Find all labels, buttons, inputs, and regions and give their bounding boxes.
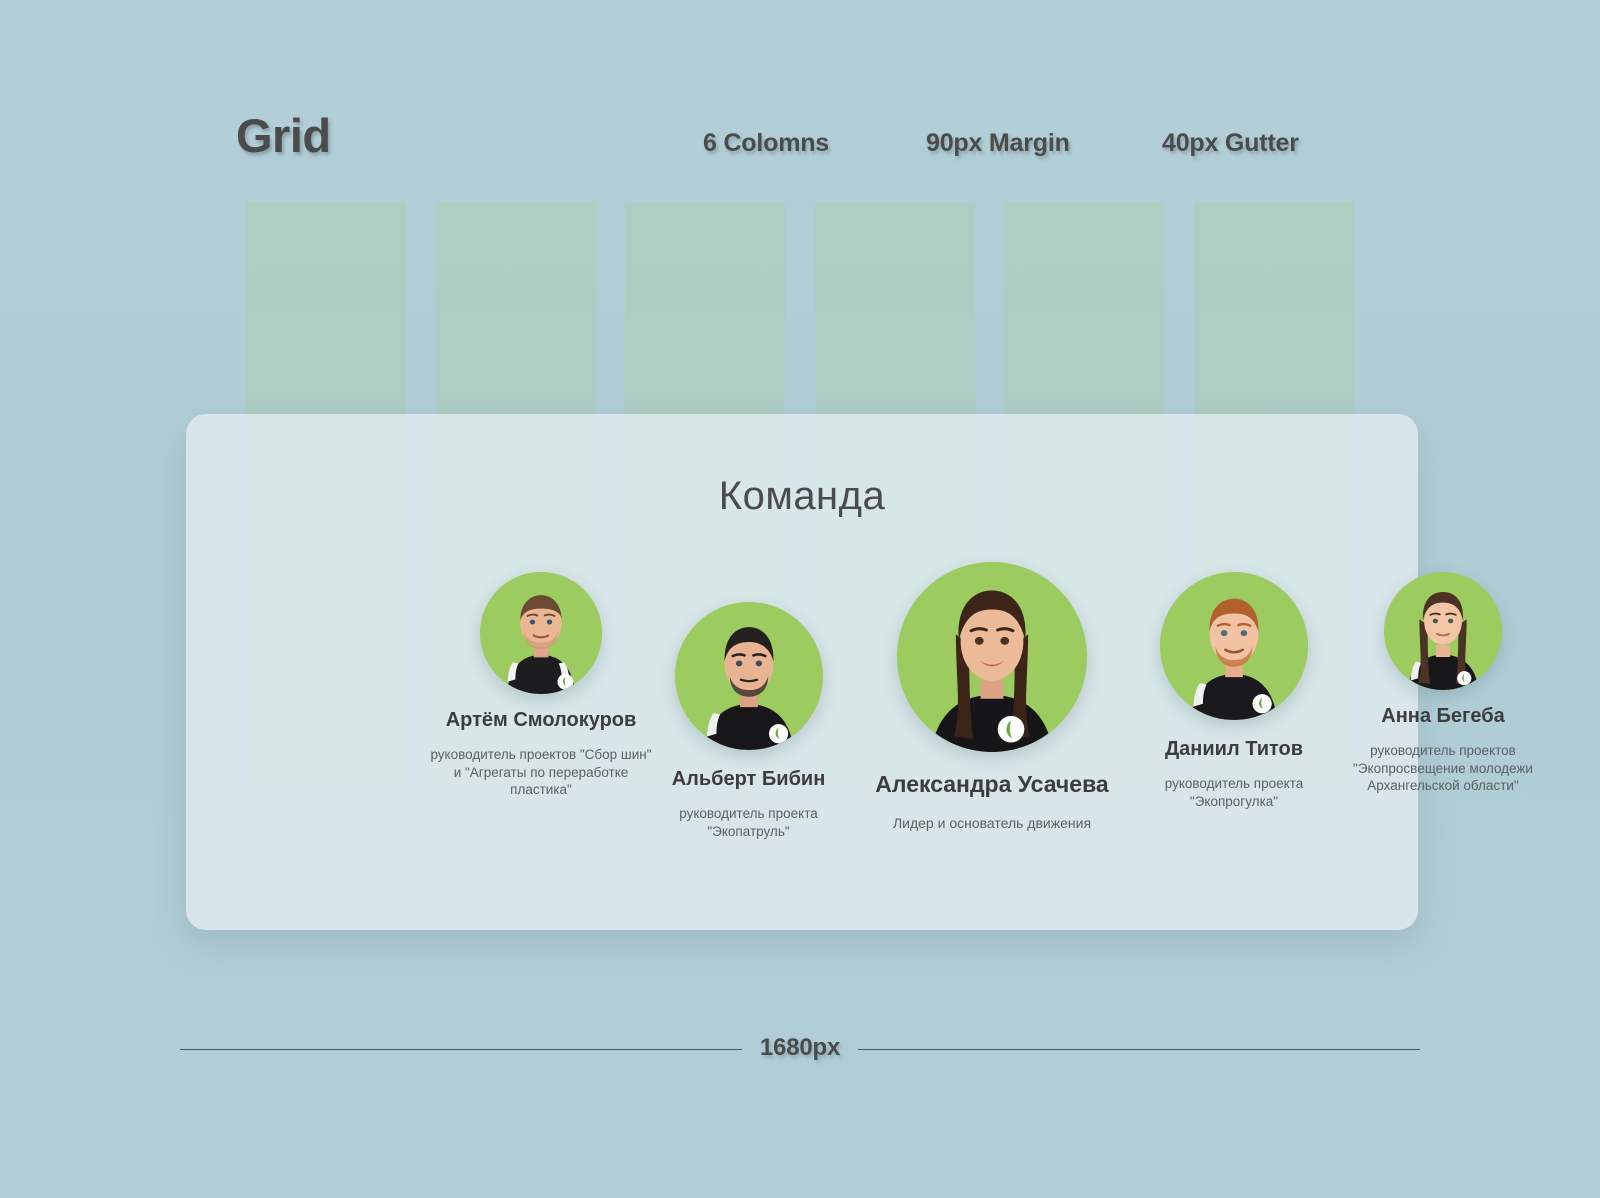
member-name: Даниил Титов: [1124, 737, 1344, 762]
grid-spec-gutter: 40px Gutter: [1162, 129, 1299, 158]
team-member-card[interactable]: Даниил Титов руководитель проекта "Экопр…: [1124, 572, 1344, 810]
avatar: [1384, 572, 1502, 690]
team-member-card[interactable]: Александра Усачева Лидер и основатель дв…: [850, 562, 1134, 832]
member-role: Лидер и основатель движения: [850, 814, 1134, 832]
team-heading: Команда: [186, 474, 1418, 519]
team-member-card[interactable]: Артём Смолокуров руководитель проектов "…: [426, 572, 656, 799]
member-role: руководитель проекта "Экопатруль": [637, 805, 860, 840]
canvas-width-label: 1680px: [742, 1034, 858, 1062]
design-canvas: Grid 6 Colomns 90px Margin 40px Gutter К…: [0, 0, 1600, 1198]
team-section-panel: Команда: [186, 414, 1418, 930]
team-member-card[interactable]: Альберт Бибин руководитель проекта "Экоп…: [637, 602, 860, 840]
avatar: [675, 602, 823, 750]
team-member-card[interactable]: Анна Бегеба руководитель проектов "Экопр…: [1334, 572, 1552, 795]
avatar: [897, 562, 1087, 752]
grid-spec-columns: 6 Colomns: [703, 129, 829, 158]
ruler-line-right: [858, 1049, 1420, 1050]
member-role: руководитель проектов "Сбор шин" и "Агре…: [426, 746, 656, 799]
member-role: руководитель проекта "Экопрогулка": [1124, 775, 1344, 810]
member-name: Анна Бегеба: [1334, 704, 1552, 729]
ruler-line-left: [180, 1049, 742, 1050]
grid-spec-margin: 90px Margin: [926, 129, 1070, 158]
member-name: Альберт Бибин: [637, 767, 860, 792]
member-role: руководитель проектов "Экопросвещение мо…: [1334, 742, 1552, 795]
avatar: [480, 572, 602, 694]
canvas-width-ruler: 1680px: [180, 1048, 1420, 1050]
member-name: Александра Усачева: [850, 770, 1134, 799]
page-title: Grid: [236, 108, 331, 163]
member-name: Артём Смолокуров: [426, 708, 656, 733]
avatar: [1160, 572, 1308, 720]
